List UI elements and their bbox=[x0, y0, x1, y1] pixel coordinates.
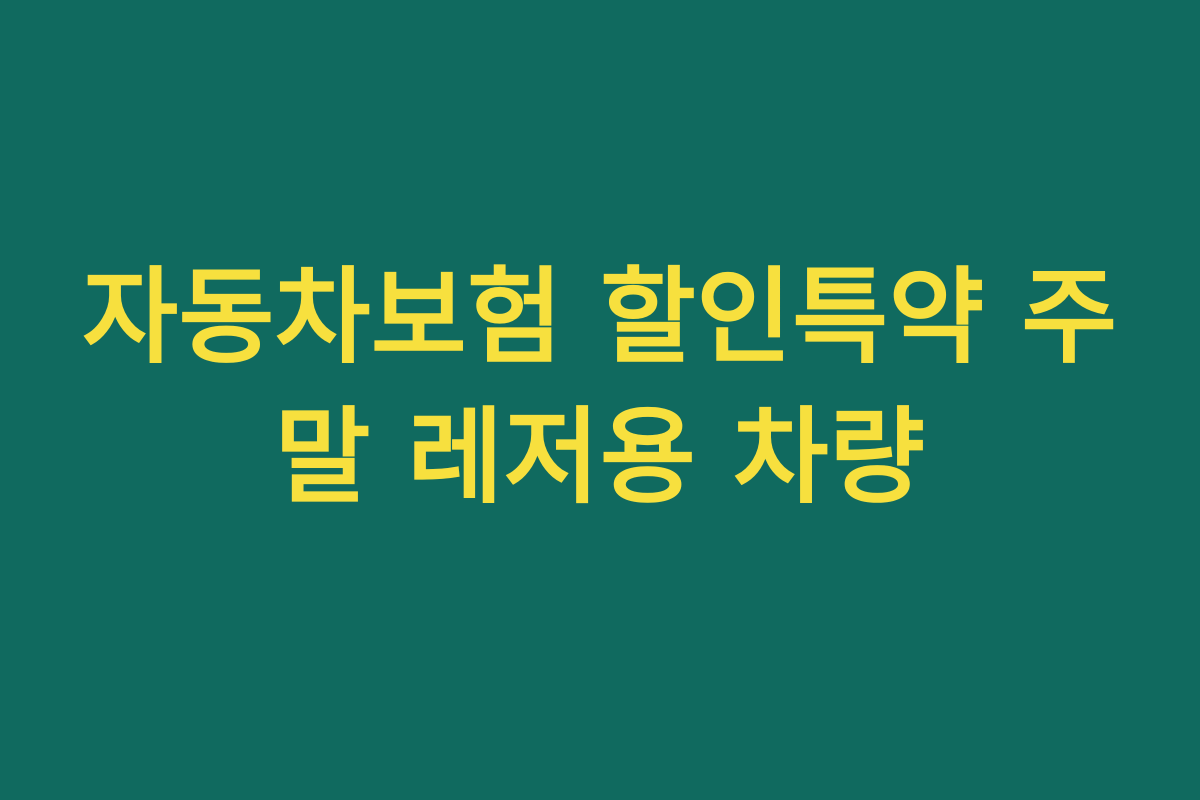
title-card: 자동차보험 할인특약 주 말 레저용 차량 bbox=[0, 0, 1200, 800]
page-title-line-2: 말 레저용 차량 bbox=[70, 387, 1130, 527]
page-title: 자동차보험 할인특약 주 말 레저용 차량 bbox=[70, 247, 1130, 527]
page-title-line-1: 자동차보험 할인특약 주 bbox=[70, 247, 1130, 387]
